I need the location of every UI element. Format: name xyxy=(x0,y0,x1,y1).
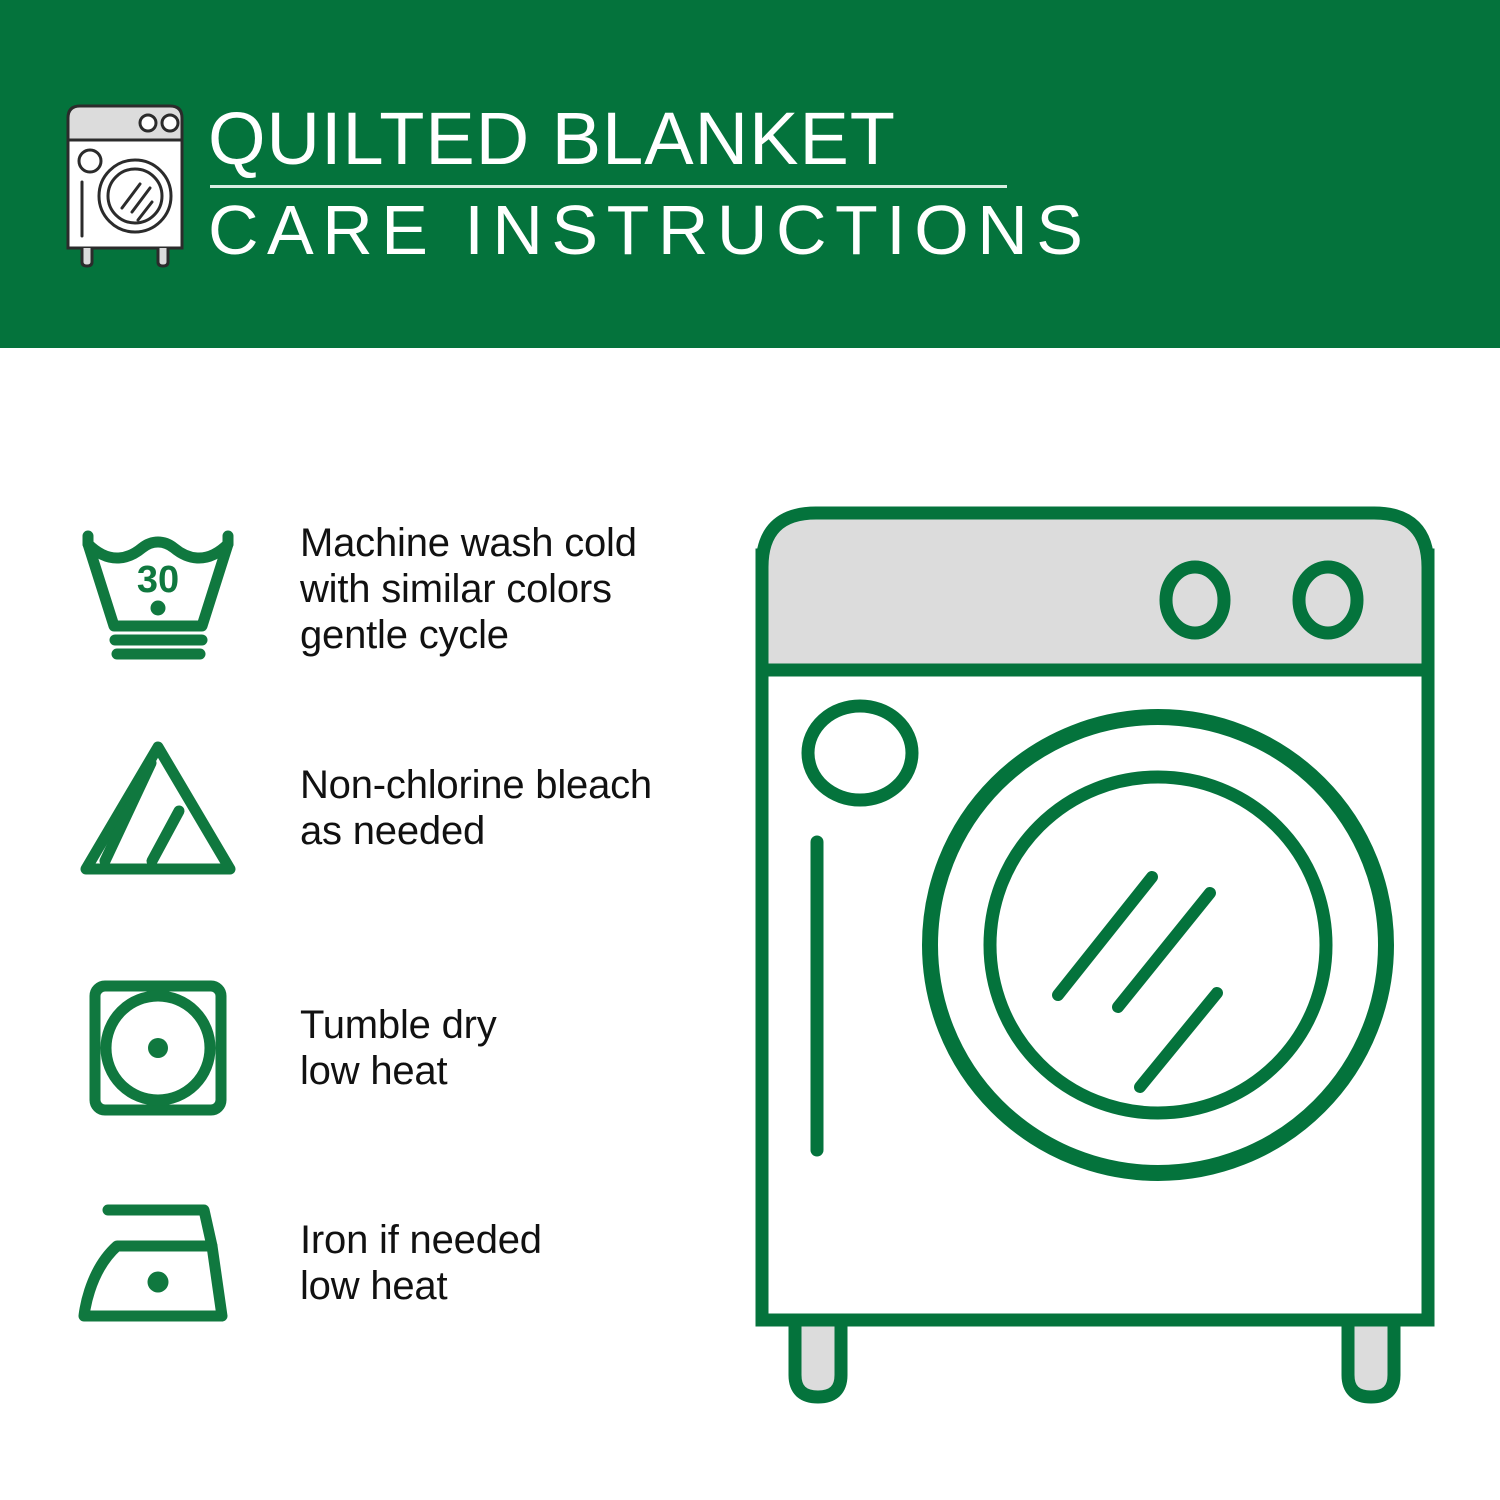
care-row: Iron if needed low heat xyxy=(72,1188,702,1338)
knob-icon xyxy=(1166,567,1224,633)
wash-temperature-label: 30 xyxy=(137,559,179,601)
care-instruction-list: 30 Machine wash cold with similar colors… xyxy=(0,348,720,1500)
care-row: Non-chlorine bleach as needed xyxy=(72,733,702,883)
care-text: Non-chlorine bleach as needed xyxy=(300,762,652,854)
machine-foot xyxy=(795,1320,841,1397)
machine-foot xyxy=(1348,1320,1394,1397)
care-text-line: gentle cycle xyxy=(300,612,637,658)
tumble-dry-low-symbol xyxy=(72,973,244,1123)
header-content: QUILTED BLANKET CARE INSTRUCTIONS xyxy=(60,96,1091,268)
header-banner: QUILTED BLANKET CARE INSTRUCTIONS xyxy=(0,0,1500,348)
care-text: Iron if needed low heat xyxy=(300,1217,542,1309)
care-text: Machine wash cold with similar colors ge… xyxy=(300,520,637,658)
front-load-washing-machine-illustration xyxy=(740,495,1450,1410)
iron-low-heat-symbol xyxy=(72,1188,244,1338)
care-text-line: Machine wash cold xyxy=(300,520,637,566)
care-text-line: low heat xyxy=(300,1048,497,1094)
care-text-line: low heat xyxy=(300,1263,542,1309)
title-block: QUILTED BLANKET CARE INSTRUCTIONS xyxy=(208,96,1091,268)
machine-wash-30-gentle-symbol: 30 xyxy=(72,514,244,664)
care-text-line: with similar colors xyxy=(300,566,637,612)
care-row: 30 Machine wash cold with similar colors… xyxy=(72,514,702,664)
dispenser-icon xyxy=(808,706,912,800)
care-text-line: Non-chlorine bleach xyxy=(300,762,652,808)
knob-icon xyxy=(1299,567,1357,633)
care-text-line: Iron if needed xyxy=(300,1217,542,1263)
care-row: Tumble dry low heat xyxy=(72,973,702,1123)
care-text-line: Tumble dry xyxy=(300,1002,497,1048)
page-title: QUILTED BLANKET xyxy=(208,100,1091,178)
title-divider xyxy=(210,185,1007,188)
page-subtitle: CARE INSTRUCTIONS xyxy=(208,192,1091,268)
care-text-line: as needed xyxy=(300,808,652,854)
washing-machine-icon xyxy=(60,96,190,268)
non-chlorine-bleach-symbol xyxy=(72,733,244,883)
care-text: Tumble dry low heat xyxy=(300,1002,497,1094)
